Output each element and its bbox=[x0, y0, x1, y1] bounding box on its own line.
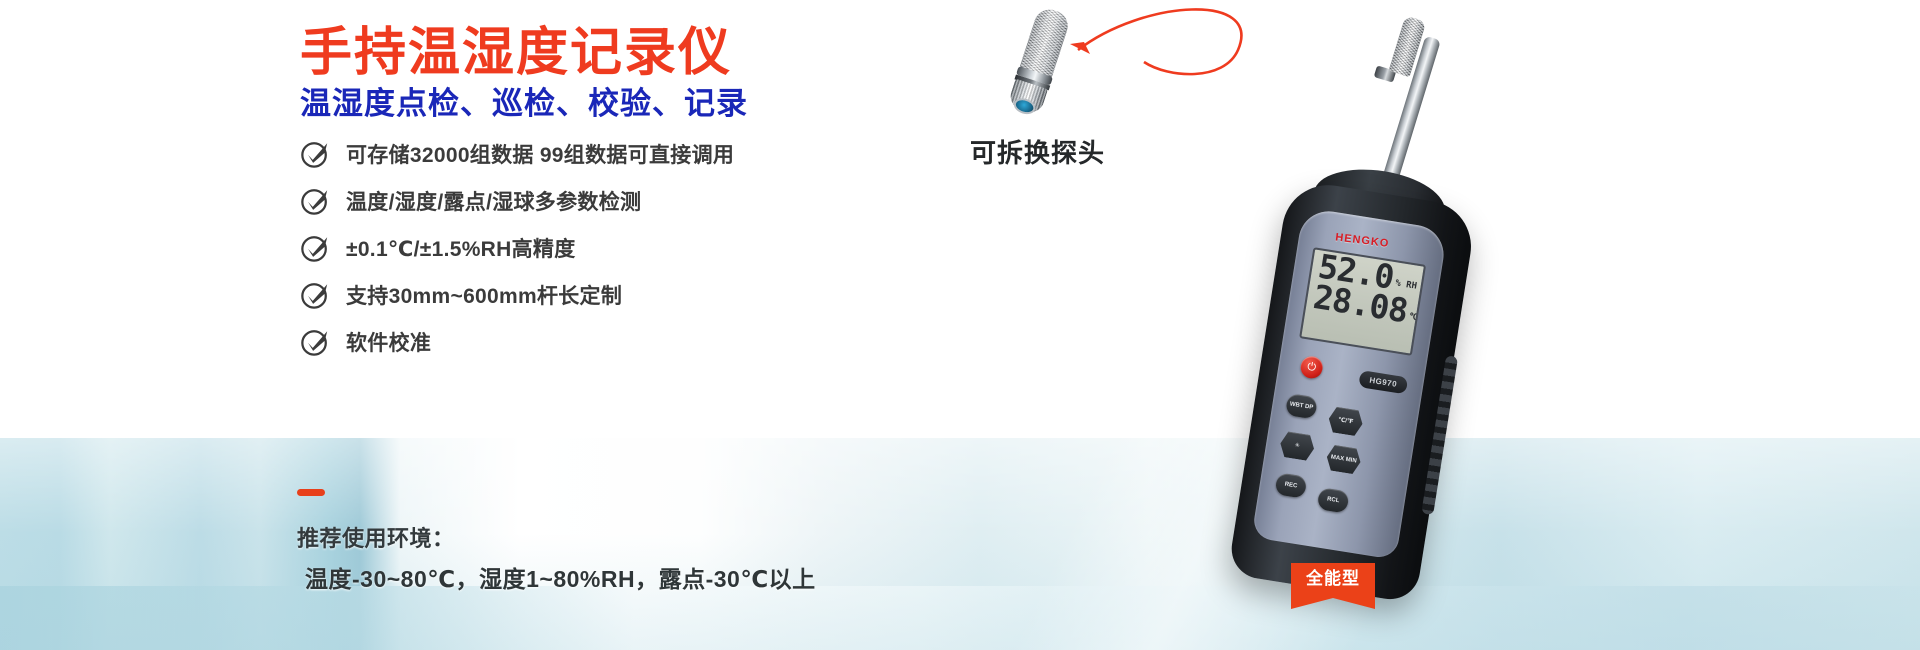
feature-text: ±0.1℃/±1.5%RH高精度 bbox=[346, 233, 576, 263]
list-item: 软件校准 bbox=[300, 318, 960, 365]
button-max-min[interactable]: MAX MIN bbox=[1325, 444, 1363, 475]
page-subtitle: 温湿度点检、巡检、校验、记录 bbox=[300, 78, 748, 123]
list-item: 支持30mm~600mm杆长定制 bbox=[300, 271, 960, 318]
meter-body: HENGKO 52.0 % RH 28.08 ℃ ⏻ HG970 WBT DP … bbox=[1227, 179, 1477, 604]
model-label: HG970 bbox=[1358, 370, 1408, 394]
list-item: 温度/湿度/露点/湿球多参数检测 bbox=[300, 177, 960, 224]
button-wbt-dp[interactable]: WBT DP bbox=[1285, 393, 1318, 419]
check-circle-icon bbox=[300, 233, 330, 263]
feature-list: 可存储32000组数据 99组数据可直接调用 温度/湿度/露点/湿球多参数检测 … bbox=[300, 130, 960, 365]
feature-text: 软件校准 bbox=[346, 327, 431, 357]
lcd-temperature-unit: ℃ bbox=[1408, 312, 1420, 323]
probe-label: 可拆换探头 bbox=[970, 133, 1105, 170]
button-unit[interactable]: ℃/℉ bbox=[1327, 406, 1365, 437]
detachable-probe bbox=[1000, 2, 1120, 132]
feature-text: 支持30mm~600mm杆长定制 bbox=[346, 280, 622, 310]
check-circle-icon bbox=[300, 186, 330, 216]
lcd-screen: 52.0 % RH 28.08 ℃ bbox=[1299, 247, 1426, 356]
page-title: 手持温湿度记录仪 bbox=[300, 10, 732, 85]
list-item: ±0.1℃/±1.5%RH高精度 bbox=[300, 224, 960, 271]
copy-column: 手持温湿度记录仪 温湿度点检、巡检、校验、记录 可存储32000组数据 99组数… bbox=[0, 0, 980, 650]
recommendation-title: 推荐使用环境： bbox=[297, 521, 455, 553]
check-circle-icon bbox=[300, 280, 330, 310]
button-backlight[interactable]: ✳ bbox=[1278, 431, 1316, 462]
check-circle-icon bbox=[300, 327, 330, 357]
power-icon[interactable]: ⏻ bbox=[1299, 355, 1324, 380]
handheld-meter: HENGKO 52.0 % RH 28.08 ℃ ⏻ HG970 WBT DP … bbox=[1120, 20, 1640, 650]
check-circle-icon bbox=[300, 139, 330, 169]
product-banner: 手持温湿度记录仪 温湿度点检、巡检、校验、记录 可存储32000组数据 99组数… bbox=[0, 0, 1920, 650]
list-item: 可存储32000组数据 99组数据可直接调用 bbox=[300, 130, 960, 177]
feature-text: 温度/湿度/露点/湿球多参数检测 bbox=[346, 186, 641, 216]
brand-logo: HENGKO bbox=[1335, 231, 1390, 250]
recommendation-line: 温度-30~80℃，湿度1~80%RH，露点-30℃以上 bbox=[305, 560, 816, 594]
feature-text: 可存储32000组数据 99组数据可直接调用 bbox=[346, 139, 734, 169]
accent-dash bbox=[297, 489, 325, 496]
button-rcl[interactable]: RCL bbox=[1317, 487, 1350, 513]
button-rec[interactable]: REC bbox=[1274, 472, 1307, 498]
